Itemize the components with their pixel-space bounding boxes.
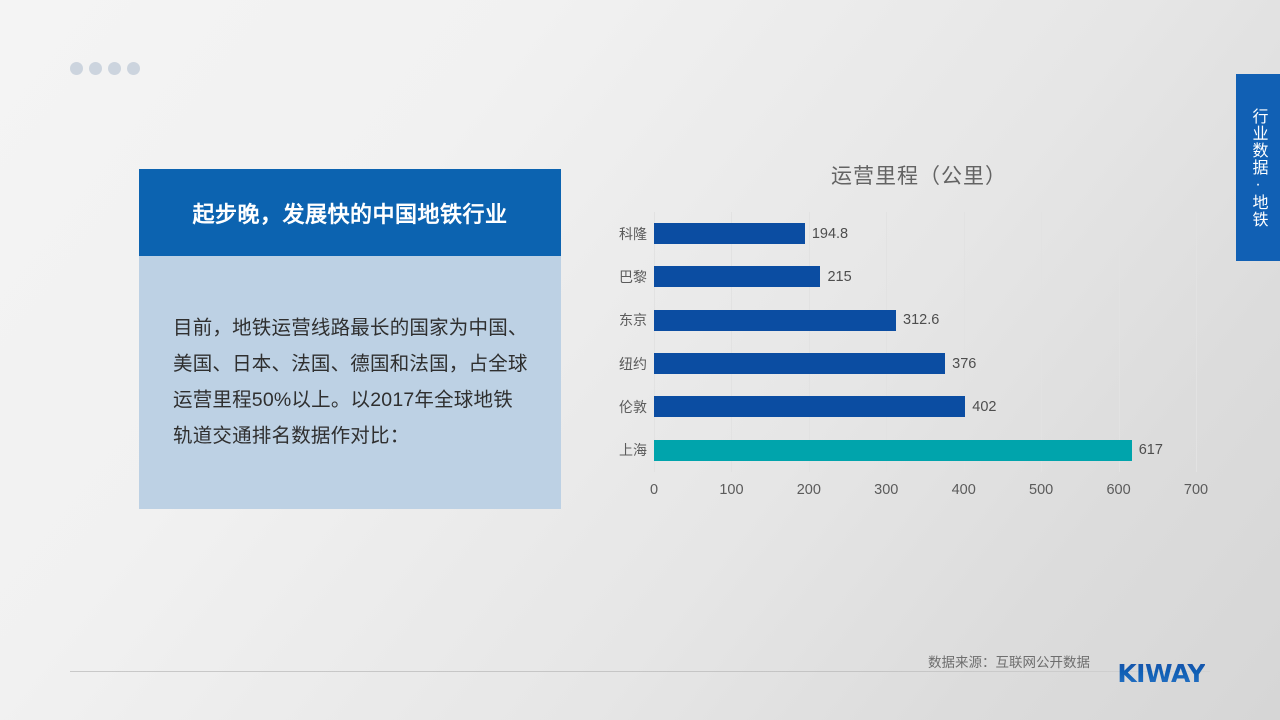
chart-bar-row: 376	[654, 342, 1196, 385]
bar-chart: 运营里程（公里） 科隆巴黎东京纽约伦敦上海 194.8215312.637640…	[596, 160, 1196, 560]
chart-bar-value-label: 376	[952, 356, 976, 372]
decorative-dots	[70, 62, 140, 75]
summary-paragraph: 目前，地铁运营线路最长的国家为中国、美国、日本、法国、德国和法国，占全球运营里程…	[139, 310, 561, 455]
chart-category-label: 巴黎	[596, 255, 654, 298]
chart-bar[interactable]	[654, 440, 1132, 461]
chart-category-label: 东京	[596, 299, 654, 342]
chart-x-tick-label: 100	[719, 482, 743, 498]
chart-plot-area: 194.8215312.6376402617	[654, 212, 1196, 472]
chart-bar-row: 402	[654, 385, 1196, 428]
chart-bar-row: 617	[654, 429, 1196, 472]
summary-card-body: 目前，地铁运营线路最长的国家为中国、美国、日本、法国、德国和法国，占全球运营里程…	[139, 256, 561, 509]
dot-icon	[108, 62, 121, 75]
chart-bar-value-label: 617	[1139, 442, 1163, 458]
chart-bar-value-label: 312.6	[903, 312, 939, 328]
chart-bar-row: 312.6	[654, 299, 1196, 342]
chart-bar[interactable]	[654, 266, 820, 287]
summary-card-header: 起步晚，发展快的中国地铁行业	[139, 169, 561, 256]
chart-bar[interactable]	[654, 353, 945, 374]
chart-x-tick-label: 400	[952, 482, 976, 498]
chart-category-label: 科隆	[596, 212, 654, 255]
chart-x-tick-label: 600	[1106, 482, 1130, 498]
source-note: 数据来源：互联网公开数据	[928, 651, 1090, 671]
chart-bar[interactable]	[654, 223, 805, 244]
chart-bar-row: 215	[654, 255, 1196, 298]
chart-plot-wrapper: 科隆巴黎东京纽约伦敦上海 194.8215312.6376402617 0100…	[596, 212, 1196, 492]
chart-x-tick-label: 0	[650, 482, 658, 498]
section-tab[interactable]: 行业数据·地铁	[1236, 74, 1280, 261]
chart-x-tick-label: 200	[797, 482, 821, 498]
chart-bar-value-label: 194.8	[812, 226, 848, 242]
chart-x-tick-label: 500	[1029, 482, 1053, 498]
chart-x-tick-label: 300	[874, 482, 898, 498]
brand-logo: KIWAY	[1117, 659, 1205, 688]
dot-icon	[127, 62, 140, 75]
summary-card: 起步晚，发展快的中国地铁行业 目前，地铁运营线路最长的国家为中国、美国、日本、法…	[139, 169, 561, 509]
chart-bar[interactable]	[654, 310, 896, 331]
chart-x-axis: 0100200300400500600700	[654, 472, 1196, 502]
chart-category-label: 伦敦	[596, 385, 654, 428]
slide-canvas: 行业数据·地铁 起步晚，发展快的中国地铁行业 目前，地铁运营线路最长的国家为中国…	[0, 0, 1280, 720]
chart-bar-series: 194.8215312.6376402617	[654, 212, 1196, 472]
page-title: 起步晚，发展快的中国地铁行业	[192, 197, 507, 229]
chart-gridline	[1196, 212, 1197, 472]
chart-category-label: 纽约	[596, 342, 654, 385]
chart-bar-row: 194.8	[654, 212, 1196, 255]
chart-title: 运营里程（公里）	[596, 160, 1196, 190]
chart-bar-value-label: 215	[827, 269, 851, 285]
chart-x-tick-label: 700	[1184, 482, 1208, 498]
dot-icon	[70, 62, 83, 75]
chart-category-label: 上海	[596, 429, 654, 472]
chart-category-axis: 科隆巴黎东京纽约伦敦上海	[596, 212, 654, 472]
section-tab-label: 行业数据·地铁	[1247, 108, 1268, 228]
chart-bar-value-label: 402	[972, 399, 996, 415]
footer-divider	[70, 671, 1210, 672]
chart-bar[interactable]	[654, 396, 965, 417]
dot-icon	[89, 62, 102, 75]
